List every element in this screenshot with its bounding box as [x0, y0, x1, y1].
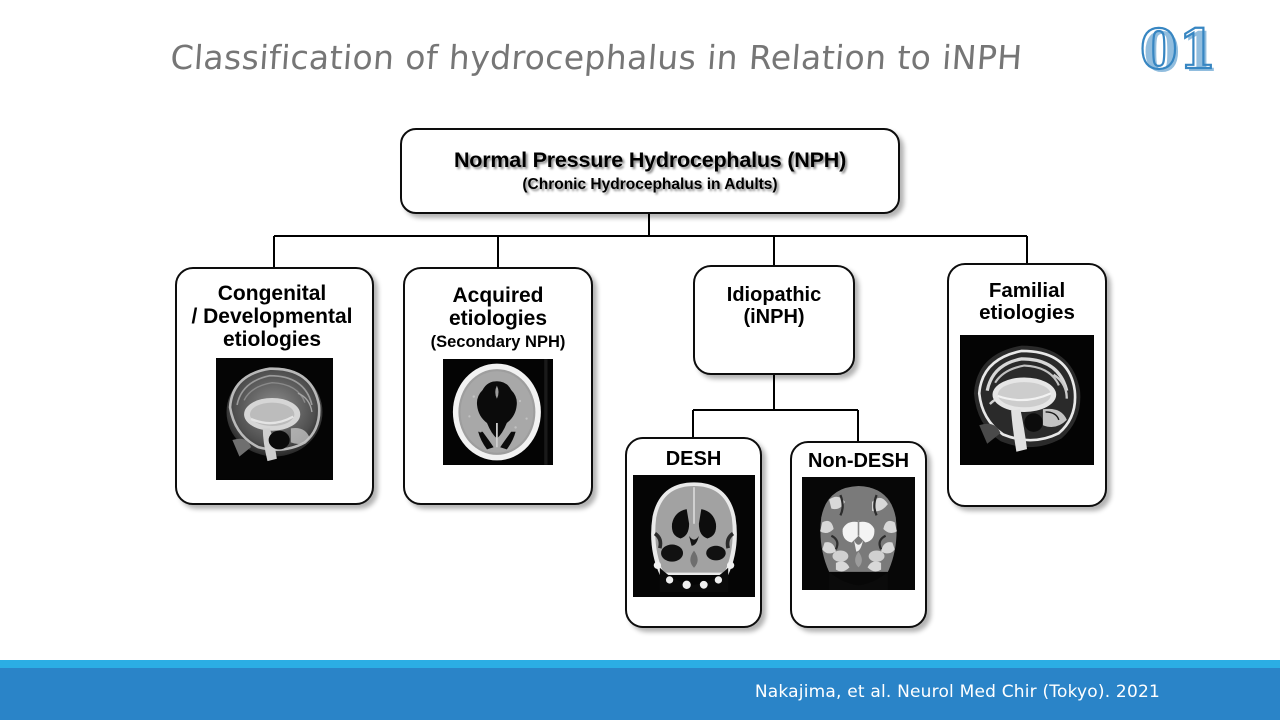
node-desh[interactable]: DESH: [625, 437, 762, 628]
coronal-mri-brain-image: [802, 477, 915, 590]
node-acquired-etiologies[interactable]: Acquired etiologies (Secondary NPH): [403, 267, 593, 505]
node-subtitle: (Chronic Hydrocephalus in Adults): [522, 176, 777, 193]
page-title: Classification of hydrocephalus in Relat…: [168, 38, 1132, 94]
slide-number-badge: 01: [1140, 22, 1217, 76]
coronal-mri-brain-image: [633, 475, 755, 597]
slide-canvas: Classification of hydrocephalus in Relat…: [0, 0, 1280, 720]
node-familial-etiologies[interactable]: Familial etiologies: [947, 263, 1107, 507]
node-congenital-developmental[interactable]: Congenital / Developmental etiologies: [175, 267, 374, 505]
node-non-desh[interactable]: Non-DESH: [790, 441, 927, 628]
sagittal-mri-brain-image: [960, 335, 1094, 465]
sagittal-mri-brain-image: [216, 358, 333, 480]
node-title: Acquired etiologies: [449, 285, 547, 331]
node-title: Non-DESH: [808, 451, 909, 473]
node-idiopathic-inph[interactable]: Idiopathic (iNPH): [693, 265, 855, 375]
citation-text: Nakajima, et al. Neurol Med Chir (Tokyo)…: [0, 682, 1160, 702]
footer-accent-strip: [0, 660, 1280, 668]
axial-ct-brain-image: [443, 359, 553, 465]
node-title: Familial etiologies: [979, 280, 1075, 325]
node-title: Congenital / Developmental etiologies: [167, 283, 377, 352]
node-subtitle: (Secondary NPH): [431, 333, 566, 351]
node-title: Idiopathic (iNPH): [727, 285, 821, 329]
node-title: DESH: [666, 449, 722, 471]
node-title: Normal Pressure Hydrocephalus (NPH): [454, 149, 846, 172]
node-normal-pressure-hydrocephalus[interactable]: Normal Pressure Hydrocephalus (NPH) (Chr…: [400, 128, 900, 214]
